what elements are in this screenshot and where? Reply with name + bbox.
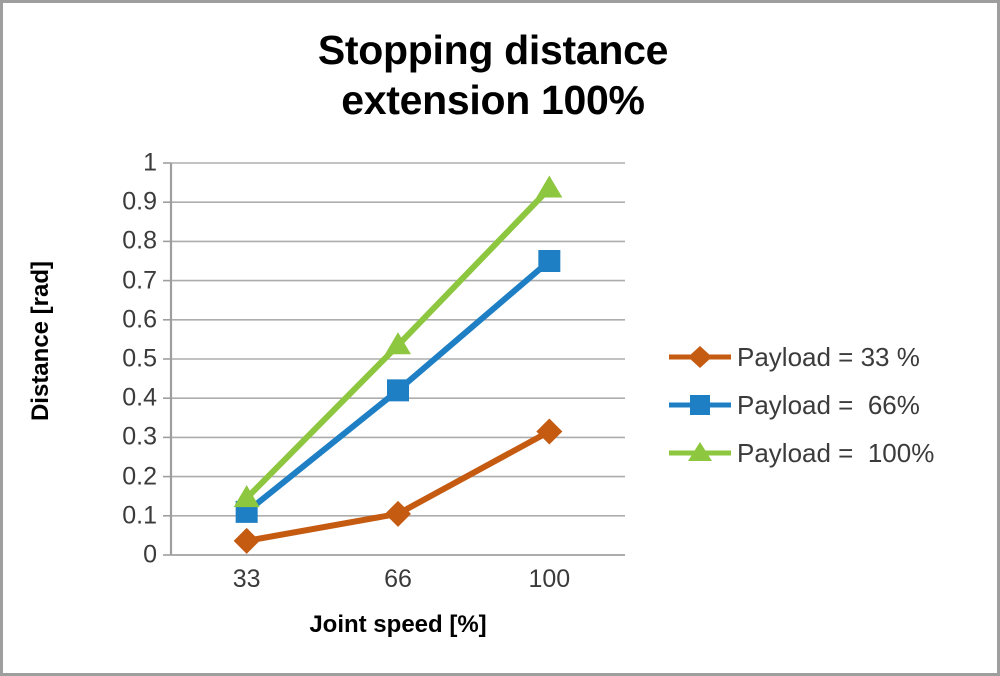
data-point-marker [536, 175, 562, 197]
chart-figure: Stopping distance extension 100% 00.10.2… [0, 0, 1000, 676]
legend-label: Payload = 66% [731, 390, 920, 421]
legend-marker-icon [669, 392, 731, 418]
gridlines [171, 163, 625, 555]
y-axis-tick-label: 0.8 [95, 227, 157, 256]
chart-title: Stopping distance extension 100% [123, 25, 863, 125]
x-axis-tick-label: 33 [197, 565, 297, 594]
y-axis-tick-label: 0.5 [95, 345, 157, 374]
y-axis-tick-labels: 00.10.20.30.40.50.60.70.80.91 [95, 163, 157, 555]
x-axis-tick-label: 100 [499, 565, 599, 594]
series-markers [234, 175, 563, 553]
legend-item[interactable]: Payload = 100% [669, 429, 989, 477]
data-point-marker [387, 379, 409, 401]
legend-marker-icon [669, 440, 731, 466]
y-axis-tick-label: 0.9 [95, 188, 157, 217]
data-point-marker [385, 501, 411, 527]
y-axis-tick-label: 0.3 [95, 423, 157, 452]
plot-svg [171, 163, 625, 555]
data-point-marker [536, 419, 562, 445]
x-axis-title: Joint speed [%] [171, 611, 625, 639]
chart-title-line-1: Stopping distance [123, 25, 863, 75]
y-axis-tick-label: 0.4 [95, 384, 157, 413]
y-axis-title: Distance [rad] [27, 241, 55, 441]
chart-title-line-2: extension 100% [123, 75, 863, 125]
legend-label: Payload = 100% [731, 438, 934, 469]
data-point-marker [538, 250, 560, 272]
legend-item[interactable]: Payload = 66% [669, 381, 989, 429]
chart-legend: Payload = 33 %Payload = 66%Payload = 100… [669, 333, 989, 477]
y-axis-tick-label: 1 [95, 149, 157, 178]
x-axis-tick-label: 66 [348, 565, 448, 594]
y-axis-tick-label: 0 [95, 541, 157, 570]
legend-label: Payload = 33 % [731, 342, 920, 373]
axis-lines [163, 163, 171, 555]
y-axis-tick-label: 0.1 [95, 501, 157, 530]
x-axis-tick-labels: 3366100 [171, 565, 625, 603]
y-axis-tick-label: 0.6 [95, 305, 157, 334]
y-axis-tick-label: 0.2 [95, 462, 157, 491]
legend-marker-icon [669, 344, 731, 370]
data-point-marker [234, 528, 260, 554]
legend-item[interactable]: Payload = 33 % [669, 333, 989, 381]
y-axis-tick-label: 0.7 [95, 266, 157, 295]
plot-area [171, 163, 625, 555]
